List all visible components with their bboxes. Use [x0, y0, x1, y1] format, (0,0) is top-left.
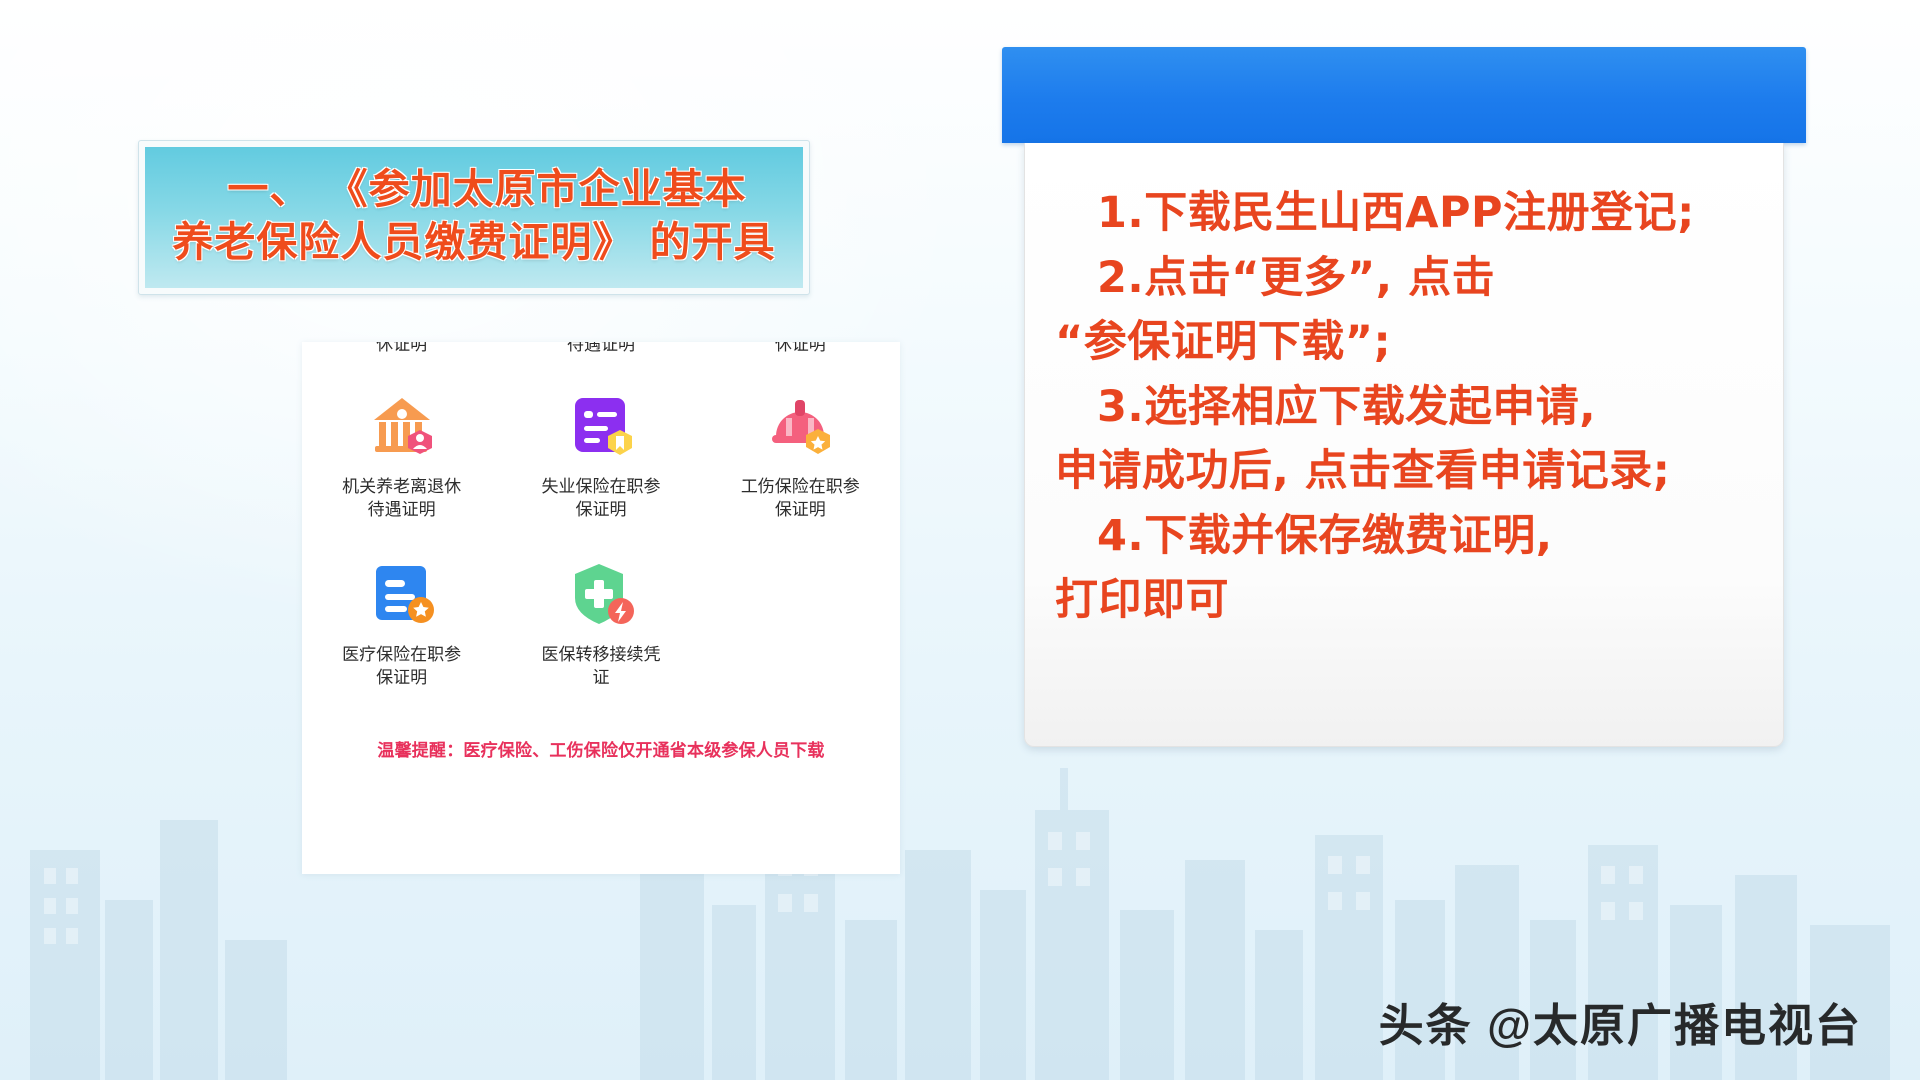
- blue-document-icon: [364, 556, 440, 632]
- title-plaque-inner: 一、 《参加太原市企业基本 养老保险人员缴费证明》 的开具: [145, 147, 803, 288]
- app-screenshot-card: 休证明 待遇证明 休证明: [302, 342, 900, 874]
- green-shield-cross-icon: [563, 556, 639, 632]
- step-line-3: “参保证明下载”;: [1055, 310, 1753, 375]
- warning-notice: 温馨提醒：医疗保险、工伤保险仅开通省本级参保人员下载: [302, 736, 900, 761]
- clipped-label: 休证明: [302, 342, 501, 358]
- channel-watermark: 头条 @太原广播电视台: [1379, 989, 1862, 1054]
- step-line-5: 申请成功后, 点击查看申请记录;: [1055, 439, 1753, 504]
- step-line-2: 2.点击“更多”, 点击: [1055, 246, 1753, 311]
- grid-item-unemployment-insurance[interactable]: 失业保险在职参 保证明: [501, 388, 700, 522]
- page-title-line-2: 养老保险人员缴费证明》 的开具: [163, 216, 785, 269]
- step-line-4: 3.选择相应下载发起申请,: [1055, 375, 1753, 440]
- pink-helmet-icon: [762, 388, 838, 464]
- grid-item-label: 工伤保险在职参 保证明: [741, 476, 860, 522]
- panel-header-bar: [1002, 47, 1806, 143]
- grid-item-medical-insurance[interactable]: 医疗保险在职参 保证明: [302, 556, 501, 690]
- slide-canvas: 一、 《参加太原市企业基本 养老保险人员缴费证明》 的开具 休证明 待遇证明 休…: [0, 0, 1920, 1080]
- certificate-icon-grid: 机关养老离退休 待遇证明 失业保险在职参 保证明: [302, 388, 900, 690]
- clipped-label-row: 休证明 待遇证明 休证明: [302, 342, 900, 358]
- clipped-label: 休证明: [701, 342, 900, 358]
- purple-document-icon: [563, 388, 639, 464]
- grid-item-work-injury-insurance[interactable]: 工伤保险在职参 保证明: [701, 388, 900, 522]
- grid-item-medical-transfer[interactable]: 医保转移接续凭 证: [501, 556, 700, 690]
- step-line-1: 1.下载民生山西APP注册登记;: [1055, 181, 1753, 246]
- panel-body: 1.下载民生山西APP注册登记; 2.点击“更多”, 点击 “参保证明下载”; …: [1024, 143, 1784, 747]
- step-line-7: 打印即可: [1055, 568, 1753, 633]
- grid-item-pension-retirement[interactable]: 机关养老离退休 待遇证明: [302, 388, 501, 522]
- clipped-label: 待遇证明: [501, 342, 700, 358]
- grid-item-label: 机关养老离退休 待遇证明: [342, 476, 461, 522]
- grid-item-label: 失业保险在职参 保证明: [541, 476, 660, 522]
- step-line-6: 4.下载并保存缴费证明,: [1055, 504, 1753, 569]
- section-title-plaque: 一、 《参加太原市企业基本 养老保险人员缴费证明》 的开具: [138, 140, 810, 295]
- instructions-panel: 1.下载民生山西APP注册登记; 2.点击“更多”, 点击 “参保证明下载”; …: [1002, 47, 1782, 747]
- bank-pillars-icon: [364, 388, 440, 464]
- grid-item-label: 医疗保险在职参 保证明: [342, 644, 461, 690]
- page-title-line-1: 一、 《参加太原市企业基本: [163, 163, 785, 216]
- grid-item-label: 医保转移接续凭 证: [541, 644, 660, 690]
- grid-item-empty: [701, 556, 900, 690]
